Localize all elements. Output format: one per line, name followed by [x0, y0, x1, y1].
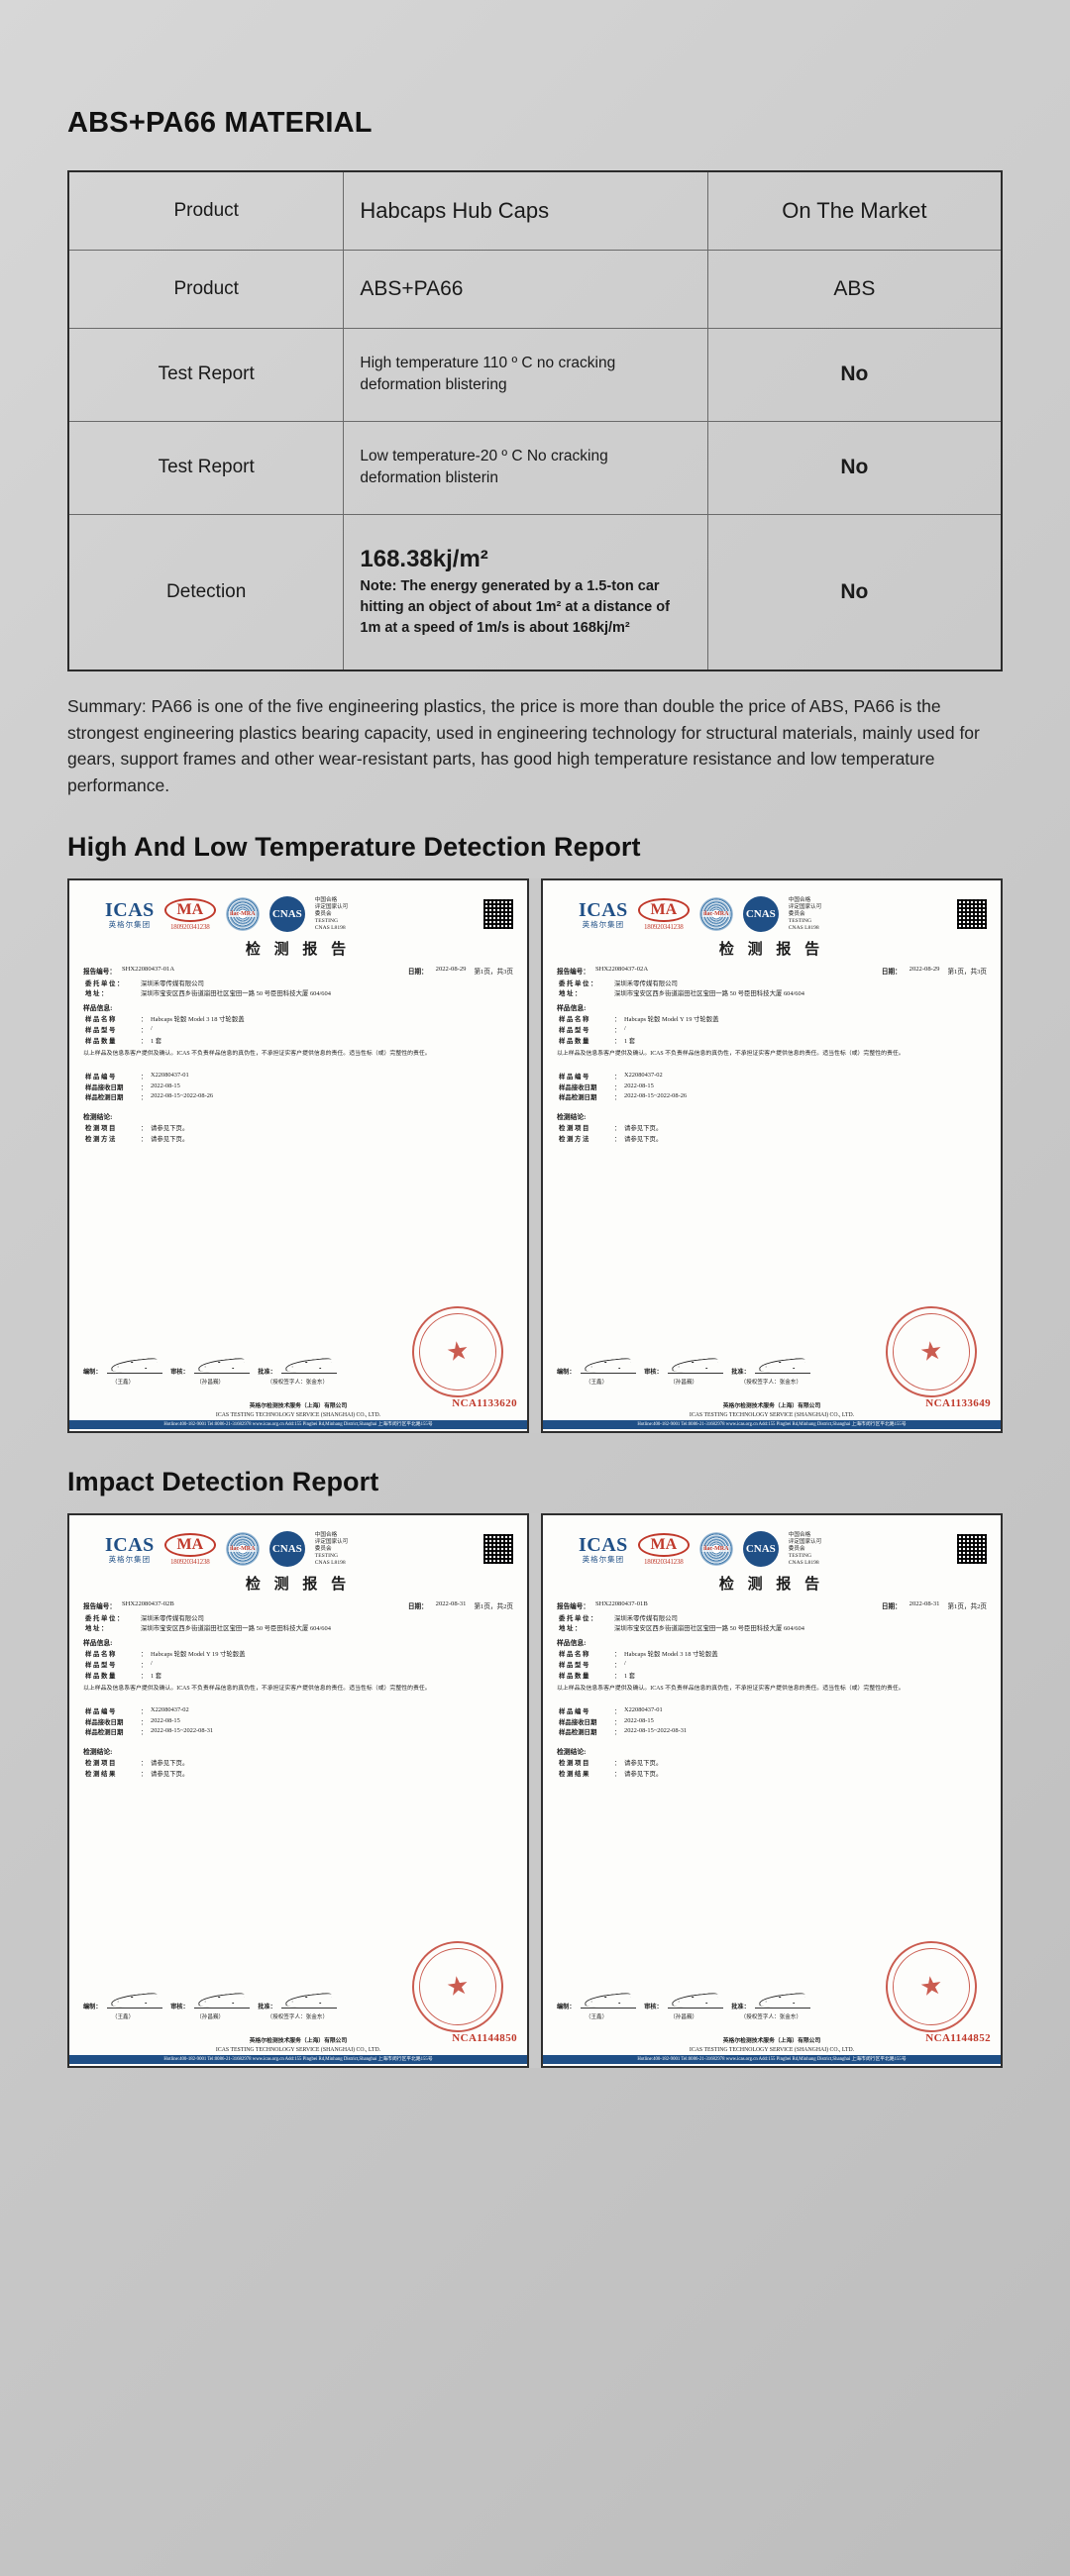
result-field: 检 测 项 目：请参见下页。: [557, 1123, 987, 1132]
result-heading: 检测结论:: [557, 1111, 987, 1121]
client-row: 委 托 单 位 ： 深圳禾零传媒有限公司: [557, 979, 987, 987]
signature-mark-icon: [281, 1993, 337, 2009]
address-row: 地 址 ： 深圳市宝安区西乡街道崩田社区宝田一路 50 号臣田科技大厦 604/…: [83, 1623, 513, 1632]
certificate-pair: ICAS 英格尔集团 MA 180920341238 ilac-MRA CNAS…: [67, 878, 1003, 1433]
result-heading: 检测结论:: [83, 1746, 513, 1756]
signature-mark-icon: [107, 1993, 162, 2009]
official-seal-icon: ★: [406, 1935, 509, 2038]
address-row: 地 址 ： 深圳市宝安区西乡街道崩田社区宝田一路 50 号臣田科技大厦 604/…: [557, 1623, 987, 1632]
client-value: 深圳禾零传媒有限公司: [614, 1613, 678, 1622]
result-field: 检 测 方 法：请参见下页。: [557, 1134, 987, 1143]
ma-certification-icon: MA 180920341238: [164, 898, 216, 931]
page-title: ABS+PA66 MATERIAL: [67, 0, 1003, 140]
sample-info-block: 样品信息: 样 品 名 称：Habcaps 轮毂 Model Y 19 寸轮毂盖…: [557, 1002, 987, 1044]
result-field: 检 测 方 法：请参见下页。: [83, 1134, 513, 1143]
icas-logo-icon: ICAS 英格尔集团: [579, 1535, 628, 1564]
report-number-value: SHX22080437-01B: [595, 1600, 648, 1610]
ma-certification-icon: MA 180920341238: [638, 898, 690, 931]
qr-code-icon: [483, 1534, 513, 1564]
address-value: 深圳市宝安区西乡街道崩田社区宝田一路 50 号臣田科技大厦 604/604: [614, 988, 804, 997]
certificate-footer: 英格尔检测技术服务（上海）有限公司 ICAS TESTING TECHNOLOG…: [543, 1402, 1001, 1432]
client-row: 委 托 单 位 ： 深圳禾零传媒有限公司: [83, 1613, 513, 1622]
signature-mark-icon: [581, 1358, 636, 1374]
signature-approve: 批准： （授权签字人：张金东）: [731, 1993, 810, 2020]
report-number-value: SHX22080437-02B: [122, 1600, 174, 1610]
material-summary-text: Summary: PA66 is one of the five enginee…: [67, 693, 1003, 798]
qr-code-icon: [483, 899, 513, 929]
sample-info-heading: 样品信息:: [557, 1002, 987, 1012]
signature-mark-icon: [194, 1993, 250, 2009]
certificate-document[interactable]: ICAS 英格尔集团 MA 180920341238 ilac-MRA CNAS…: [541, 878, 1003, 1433]
sample-detail-field: 样品接收日期：2022-08-15: [557, 1717, 987, 1726]
certificate-document[interactable]: ICAS 英格尔集团 MA 180920341238 ilac-MRA CNAS…: [67, 878, 529, 1433]
date-value: 2022-08-29: [909, 966, 940, 976]
material-comparison-table: Product Habcaps Hub Caps On The Market P…: [67, 170, 1003, 671]
row-product-value: ABS+PA66: [344, 250, 707, 328]
address-row: 地 址 ： 深圳市宝安区西乡街道崩田社区宝田一路 50 号臣田科技大厦 604/…: [83, 988, 513, 997]
icas-logo-icon: ICAS 英格尔集团: [105, 1535, 155, 1564]
ilac-mra-icon: ilac-MRA: [226, 897, 260, 931]
report-number-label: 报告编号：: [83, 1600, 116, 1610]
table-row: Test Report Low temperature-20 º C No cr…: [68, 421, 1002, 514]
sample-info-block: 样品信息: 样 品 名 称：Habcaps 轮毂 Model Y 19 寸轮毂盖…: [83, 1637, 513, 1679]
certificate-logo-row: ICAS 英格尔集团 MA 180920341238 ilac-MRA CNAS…: [557, 892, 987, 936]
signature-review: 审核： （孙昌巍）: [170, 1993, 250, 2020]
sample-field: 样 品 型 号：/: [557, 1660, 987, 1669]
report-number-line: 报告编号： SHX22080437-02B 日期： 2022-08-31 第1页…: [83, 1600, 513, 1610]
result-block: 检测结论: 检 测 项 目：请参见下页。 检 测 方 法：请参见下页。: [83, 1111, 513, 1143]
signature-review: 审核： （孙昌巍）: [644, 1993, 723, 2020]
result-field: 检 测 结 果：请参见下页。: [83, 1769, 513, 1778]
sample-field: 样 品 名 称：Habcaps 轮毂 Model 3 18 寸轮毂盖: [83, 1014, 513, 1023]
certificate-logo-row: ICAS 英格尔集团 MA 180920341238 ilac-MRA CNAS…: [83, 1527, 513, 1571]
sample-detail-field: 样品检测日期：2022-08-15~2022-08-26: [83, 1092, 513, 1101]
sample-detail-block: 样 品 编 号：X22080437-02 样品接收日期：2022-08-15 样…: [557, 1072, 987, 1101]
report-section-impact: Impact Detection Report ICAS 英格尔集团 MA 18…: [67, 1467, 1003, 2068]
result-field: 检 测 结 果：请参见下页。: [557, 1769, 987, 1778]
cnas-logo-icon: CNAS: [743, 1531, 779, 1567]
result-block: 检测结论: 检 测 项 目：请参见下页。 检 测 结 果：请参见下页。: [557, 1746, 987, 1778]
client-value: 深圳禾零传媒有限公司: [141, 1613, 204, 1622]
signature-mark-icon: [107, 1358, 162, 1374]
table-row: Test Report High temperature 110 º C no …: [68, 328, 1002, 421]
sample-info-heading: 样品信息:: [557, 1637, 987, 1647]
certificate-footer: 英格尔检测技术服务（上海）有限公司 ICAS TESTING TECHNOLOG…: [69, 2037, 527, 2067]
address-label: 地 址 ：: [85, 1623, 137, 1632]
section-heading: High And Low Temperature Detection Repor…: [67, 832, 1003, 863]
row-market-value: ABS: [707, 250, 1002, 328]
row-label: Detection: [68, 514, 344, 670]
date-label: 日期：: [408, 1600, 428, 1610]
sample-field: 样 品 型 号：/: [557, 1025, 987, 1034]
page-indicator: 第1页，共2页: [474, 1600, 513, 1610]
sample-field: 样 品 名 称：Habcaps 轮毂 Model Y 19 寸轮毂盖: [83, 1649, 513, 1658]
row-label: Test Report: [68, 421, 344, 514]
certificate-pair: ICAS 英格尔集团 MA 180920341238 ilac-MRA CNAS…: [67, 1513, 1003, 2068]
cnas-accreditation-text: 中国合格 评定国家认可 委员会 TESTING CNAS L8198: [789, 1532, 822, 1567]
sample-info-block: 样品信息: 样 品 名 称：Habcaps 轮毂 Model 3 18 寸轮毂盖…: [557, 1637, 987, 1679]
sample-detail-field: 样品检测日期：2022-08-15~2022-08-31: [83, 1727, 513, 1736]
detection-value: 168.38kj/m²: [360, 546, 691, 573]
signature-mark-icon: [755, 1358, 810, 1374]
signature-approve: 批准： （授权签字人：张金东）: [258, 1358, 337, 1386]
sample-detail-field: 样品接收日期：2022-08-15: [83, 1717, 513, 1726]
disclaimer-text: 以上样品及信息系客户提供及确认。ICAS 不负责样品信息的真伪性，不承担证实客户…: [557, 1050, 987, 1059]
date-label: 日期：: [882, 1600, 902, 1610]
certificate-title: 检 测 报 告: [83, 1573, 513, 1594]
sample-detail-field: 样 品 编 号：X22080437-01: [83, 1072, 513, 1081]
certificate-logo-row: ICAS 英格尔集团 MA 180920341238 ilac-MRA CNAS…: [557, 1527, 987, 1571]
product-spec-page: ABS+PA66 MATERIAL Product Habcaps Hub Ca…: [0, 0, 1070, 2068]
certificate-footer: 英格尔检测技术服务（上海）有限公司 ICAS TESTING TECHNOLOG…: [69, 1402, 527, 1432]
sample-field: 样 品 数 量：1 套: [557, 1671, 987, 1680]
signature-compile: 编制： （王鑫）: [83, 1993, 162, 2020]
signature-compile: 编制： （王鑫）: [557, 1993, 636, 2020]
qr-code-icon: [957, 1534, 987, 1564]
client-label: 委 托 单 位 ：: [85, 1613, 137, 1622]
official-seal-icon: ★: [406, 1300, 509, 1403]
signature-mark-icon: [194, 1358, 250, 1374]
page-indicator: 第1页，共3页: [947, 966, 987, 976]
disclaimer-text: 以上样品及信息系客户提供及确认。ICAS 不负责样品信息的真伪性，不承担证实客户…: [557, 1685, 987, 1694]
certificate-document[interactable]: ICAS 英格尔集团 MA 180920341238 ilac-MRA CNAS…: [541, 1513, 1003, 2068]
ma-certification-icon: MA 180920341238: [638, 1533, 690, 1566]
sample-info-heading: 样品信息:: [83, 1002, 513, 1012]
signature-review: 审核： （孙昌巍）: [170, 1358, 250, 1386]
sample-detail-field: 样品检测日期：2022-08-15~2022-08-31: [557, 1727, 987, 1736]
signature-compile: 编制： （王鑫）: [83, 1358, 162, 1386]
sample-field: 样 品 名 称：Habcaps 轮毂 Model Y 19 寸轮毂盖: [557, 1014, 987, 1023]
row-market-value: No: [707, 328, 1002, 421]
report-number-value: SHX22080437-01A: [122, 966, 174, 976]
sample-field: 样 品 数 量：1 套: [557, 1036, 987, 1045]
row-label: Product: [68, 250, 344, 328]
address-value: 深圳市宝安区西乡街道崩田社区宝田一路 50 号臣田科技大厦 604/604: [614, 1623, 804, 1632]
row-product-value: Habcaps Hub Caps: [344, 171, 707, 250]
sample-detail-field: 样 品 编 号：X22080437-02: [83, 1706, 513, 1715]
date-value: 2022-08-29: [436, 966, 467, 976]
report-number-line: 报告编号： SHX22080437-01A 日期： 2022-08-29 第1页…: [83, 966, 513, 976]
result-heading: 检测结论:: [83, 1111, 513, 1121]
date-label: 日期：: [408, 966, 428, 976]
icas-logo-icon: ICAS 英格尔集团: [579, 900, 628, 929]
sample-info-block: 样品信息: 样 品 名 称：Habcaps 轮毂 Model 3 18 寸轮毂盖…: [83, 1002, 513, 1044]
client-row: 委 托 单 位 ： 深圳禾零传媒有限公司: [557, 1613, 987, 1622]
report-number-line: 报告编号： SHX22080437-01B 日期： 2022-08-31 第1页…: [557, 1600, 987, 1610]
report-section-high-low: High And Low Temperature Detection Repor…: [67, 832, 1003, 1433]
detection-note: Note: The energy generated by a 1.5-ton …: [360, 576, 691, 638]
signature-mark-icon: [755, 1993, 810, 2009]
address-label: 地 址 ：: [559, 988, 610, 997]
ilac-mra-icon: ilac-MRA: [699, 897, 733, 931]
official-seal-icon: ★: [880, 1935, 983, 2038]
cnas-accreditation-text: 中国合格 评定国家认可 委员会 TESTING CNAS L8198: [315, 897, 349, 932]
sample-detail-field: 样品检测日期：2022-08-15~2022-08-26: [557, 1092, 987, 1101]
page-indicator: 第1页，共3页: [474, 966, 513, 976]
sample-detail-field: 样品接收日期：2022-08-15: [557, 1082, 987, 1091]
row-market-value: No: [707, 514, 1002, 670]
date-value: 2022-08-31: [909, 1600, 940, 1610]
table-row: Product ABS+PA66 ABS: [68, 250, 1002, 328]
cnas-accreditation-text: 中国合格 评定国家认可 委员会 TESTING CNAS L8198: [315, 1532, 349, 1567]
disclaimer-text: 以上样品及信息系客户提供及确认。ICAS 不负责样品信息的真伪性，不承担证实客户…: [83, 1050, 513, 1059]
row-detection-cell: 168.38kj/m² Note: The energy generated b…: [344, 514, 707, 670]
report-number-label: 报告编号：: [557, 966, 589, 976]
table-row: Detection 168.38kj/m² Note: The energy g…: [68, 514, 1002, 670]
ilac-mra-icon: ilac-MRA: [226, 1532, 260, 1566]
report-number-value: SHX22080437-02A: [595, 966, 648, 976]
sample-info-heading: 样品信息:: [83, 1637, 513, 1647]
result-block: 检测结论: 检 测 项 目：请参见下页。 检 测 方 法：请参见下页。: [557, 1111, 987, 1143]
certificate-footer: 英格尔检测技术服务（上海）有限公司 ICAS TESTING TECHNOLOG…: [543, 2037, 1001, 2067]
sample-field: 样 品 名 称：Habcaps 轮毂 Model 3 18 寸轮毂盖: [557, 1649, 987, 1658]
sample-field: 样 品 型 号：/: [83, 1025, 513, 1034]
result-field: 检 测 项 目：请参见下页。: [83, 1123, 513, 1132]
table-row: Product Habcaps Hub Caps On The Market: [68, 171, 1002, 250]
sample-field: 样 品 数 量：1 套: [83, 1036, 513, 1045]
disclaimer-text: 以上样品及信息系客户提供及确认。ICAS 不负责样品信息的真伪性，不承担证实客户…: [83, 1685, 513, 1694]
date-value: 2022-08-31: [436, 1600, 467, 1610]
signature-approve: 批准： （授权签字人：张金东）: [731, 1358, 810, 1386]
row-market-value: No: [707, 421, 1002, 514]
icas-logo-icon: ICAS 英格尔集团: [105, 900, 155, 929]
client-value: 深圳禾零传媒有限公司: [614, 979, 678, 987]
cnas-logo-icon: CNAS: [269, 896, 305, 932]
ma-certification-icon: MA 180920341238: [164, 1533, 216, 1566]
address-row: 地 址 ： 深圳市宝安区西乡街道崩田社区宝田一路 50 号臣田科技大厦 604/…: [557, 988, 987, 997]
row-market-value: On The Market: [707, 171, 1002, 250]
cnas-accreditation-text: 中国合格 评定国家认可 委员会 TESTING CNAS L8198: [789, 897, 822, 932]
section-heading: Impact Detection Report: [67, 1467, 1003, 1497]
sample-detail-field: 样 品 编 号：X22080437-01: [557, 1706, 987, 1715]
report-number-line: 报告编号： SHX22080437-02A 日期： 2022-08-29 第1页…: [557, 966, 987, 976]
client-row: 委 托 单 位 ： 深圳禾零传媒有限公司: [83, 979, 513, 987]
sample-detail-field: 样品接收日期：2022-08-15: [83, 1082, 513, 1091]
date-label: 日期：: [882, 966, 902, 976]
address-value: 深圳市宝安区西乡街道崩田社区宝田一路 50 号臣田科技大厦 604/604: [141, 1623, 331, 1632]
result-field: 检 测 项 目：请参见下页。: [83, 1758, 513, 1767]
address-label: 地 址 ：: [85, 988, 137, 997]
address-value: 深圳市宝安区西乡街道崩田社区宝田一路 50 号臣田科技大厦 604/604: [141, 988, 331, 997]
row-label: Test Report: [68, 328, 344, 421]
sample-detail-block: 样 品 编 号：X22080437-01 样品接收日期：2022-08-15 样…: [83, 1072, 513, 1101]
certificate-logo-row: ICAS 英格尔集团 MA 180920341238 ilac-MRA CNAS…: [83, 892, 513, 936]
client-label: 委 托 单 位 ：: [559, 979, 610, 987]
sample-detail-field: 样 品 编 号：X22080437-02: [557, 1072, 987, 1081]
sample-field: 样 品 型 号：/: [83, 1660, 513, 1669]
client-label: 委 托 单 位 ：: [85, 979, 137, 987]
report-number-label: 报告编号：: [557, 1600, 589, 1610]
result-block: 检测结论: 检 测 项 目：请参见下页。 检 测 结 果：请参见下页。: [83, 1746, 513, 1778]
client-label: 委 托 单 位 ：: [559, 1613, 610, 1622]
report-number-label: 报告编号：: [83, 966, 116, 976]
signature-mark-icon: [668, 1993, 723, 2009]
signature-mark-icon: [668, 1358, 723, 1374]
client-value: 深圳禾零传媒有限公司: [141, 979, 204, 987]
row-product-value: Low temperature-20 º C No cracking defor…: [344, 421, 707, 514]
certificate-title: 检 测 报 告: [557, 1573, 987, 1594]
address-label: 地 址 ：: [559, 1623, 610, 1632]
sample-detail-block: 样 品 编 号：X22080437-02 样品接收日期：2022-08-15 样…: [83, 1706, 513, 1736]
signature-review: 审核： （孙昌巍）: [644, 1358, 723, 1386]
sample-field: 样 品 数 量：1 套: [83, 1671, 513, 1680]
certificate-title: 检 测 报 告: [557, 938, 987, 959]
ilac-mra-icon: ilac-MRA: [699, 1532, 733, 1566]
row-label: Product: [68, 171, 344, 250]
page-indicator: 第1页，共2页: [947, 1600, 987, 1610]
signature-compile: 编制： （王鑫）: [557, 1358, 636, 1386]
signature-approve: 批准： （授权签字人：张金东）: [258, 1993, 337, 2020]
result-heading: 检测结论:: [557, 1746, 987, 1756]
sample-detail-block: 样 品 编 号：X22080437-01 样品接收日期：2022-08-15 样…: [557, 1706, 987, 1736]
official-seal-icon: ★: [880, 1300, 983, 1403]
qr-code-icon: [957, 899, 987, 929]
cnas-logo-icon: CNAS: [269, 1531, 305, 1567]
signature-mark-icon: [581, 1993, 636, 2009]
result-field: 检 测 项 目：请参见下页。: [557, 1758, 987, 1767]
certificate-document[interactable]: ICAS 英格尔集团 MA 180920341238 ilac-MRA CNAS…: [67, 1513, 529, 2068]
cnas-logo-icon: CNAS: [743, 896, 779, 932]
row-product-value: High temperature 110 º C no cracking def…: [344, 328, 707, 421]
signature-mark-icon: [281, 1358, 337, 1374]
certificate-title: 检 测 报 告: [83, 938, 513, 959]
